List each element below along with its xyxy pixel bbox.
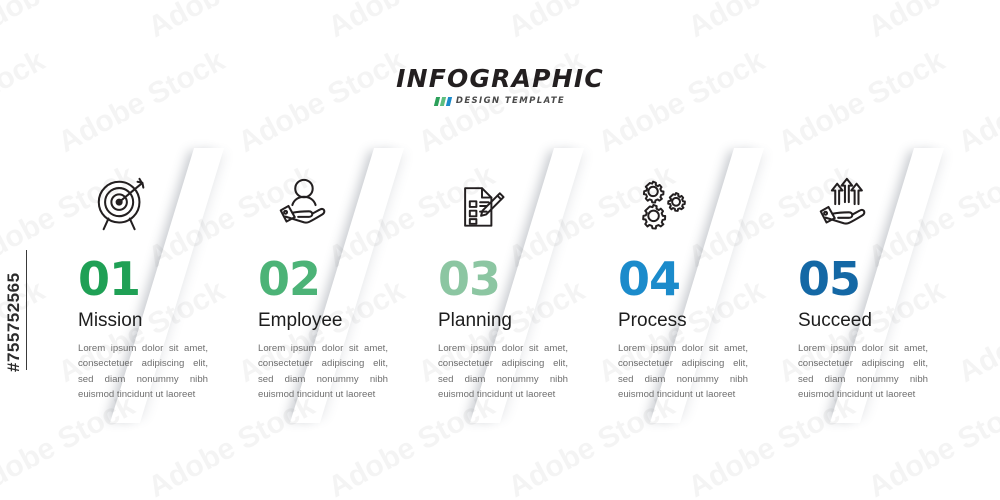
step-number: 02 [258, 256, 408, 302]
gears-icon [618, 170, 768, 242]
logo-block: INFOGRAPHIC DESIGN TEMPLATE [0, 66, 1000, 106]
step-description: Lorem ipsum dolor sit amet, consectetuer… [618, 341, 748, 403]
logo-subtitle-row: DESIGN TEMPLATE [0, 96, 1000, 106]
step-description: Lorem ipsum dolor sit amet, consectetuer… [258, 341, 388, 403]
step-title: Planning [438, 311, 588, 332]
step-number: 01 [78, 256, 228, 302]
logo-bars-icon [435, 97, 451, 106]
step-column-2[interactable]: 02 Employee Lorem ipsum dolor sit amet, … [258, 170, 408, 403]
document-pencil-icon [438, 170, 588, 242]
step-title: Employee [258, 311, 408, 332]
step-column-4[interactable]: 04 Process Lorem ipsum dolor sit amet, c… [618, 170, 768, 403]
target-arrow-icon [78, 170, 228, 242]
hand-person-icon [258, 170, 408, 242]
hand-growth-arrows-icon [798, 170, 948, 242]
step-column-3[interactable]: 03 Planning Lorem ipsum dolor sit amet, … [438, 170, 588, 403]
watermark-id: #755752565 [4, 272, 24, 372]
logo-title: INFOGRAPHIC [0, 66, 1000, 91]
step-title: Succeed [798, 311, 948, 332]
step-title: Process [618, 311, 768, 332]
step-column-1[interactable]: 01 Mission Lorem ipsum dolor sit amet, c… [78, 170, 228, 403]
step-column-5[interactable]: 05 Succeed Lorem ipsum dolor sit amet, c… [798, 170, 948, 403]
logo-subtitle: DESIGN TEMPLATE [456, 96, 565, 106]
step-description: Lorem ipsum dolor sit amet, consectetuer… [78, 341, 208, 403]
step-title: Mission [78, 311, 228, 332]
step-number: 05 [798, 256, 948, 302]
step-description: Lorem ipsum dolor sit amet, consectetuer… [438, 341, 568, 403]
step-number: 04 [618, 256, 768, 302]
step-description: Lorem ipsum dolor sit amet, consectetuer… [798, 341, 928, 403]
step-number: 03 [438, 256, 588, 302]
infographic-canvas: INFOGRAPHIC DESIGN TEMPLATE [0, 0, 1000, 500]
watermark-divider [26, 250, 27, 370]
